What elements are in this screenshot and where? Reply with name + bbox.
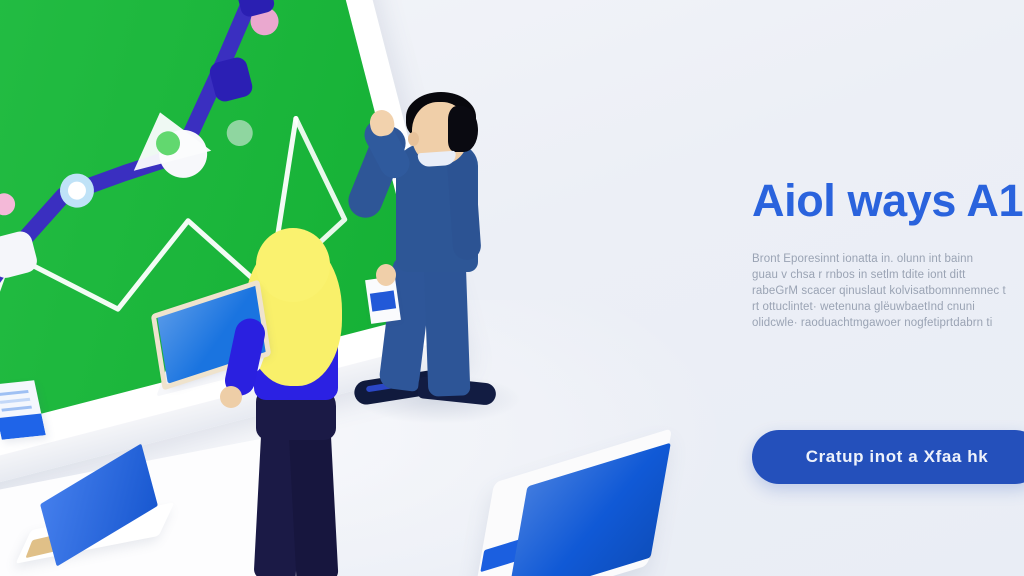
hero-illustration-banner: Aiol ways A1 Bront Eporesinnt ionatta in… [0,0,1024,576]
mini-card-text-lines [0,390,29,396]
chart-node [224,117,256,149]
tablet-device-flat [478,462,716,576]
woman-hair-top [256,228,330,302]
body-copy-line: olidcwle· raoduachtmgawoer nogfetiprtdab… [752,315,1024,331]
man-ear [408,132,419,146]
copy-panel: Aiol ways A1 Bront Eporesinnt ionatta in… [752,178,1024,331]
chart-node [0,191,17,218]
body-copy-line: Bront Eporesinnt ionatta in. olunn int b… [752,251,1024,267]
laptop-device-left [22,474,172,560]
man-hair-back [448,106,478,152]
page-title: Aiol ways A1 [752,178,1024,225]
body-copy-line: rt ottuclintet· wetenuna glёuwbaetInd cn… [752,299,1024,315]
woman-hand-lower [220,386,242,408]
man-paper-blue-block [370,290,396,311]
man-hand-lower [376,264,396,286]
mini-card-color-bar [0,414,46,440]
cta-button[interactable]: Cratup inot a Xfaa hk [752,430,1024,484]
body-copy: Bront Eporesinnt ionatta in. olunn int b… [752,251,1024,331]
person-man-presenting [352,88,542,428]
body-copy-line: guau v chsa r rnbos in setlm tdite iont … [752,267,1024,283]
body-copy-line: rabeGrM scacer qinuslaut kolvisatbomnnem… [752,283,1024,299]
man-leg-front [424,255,471,396]
